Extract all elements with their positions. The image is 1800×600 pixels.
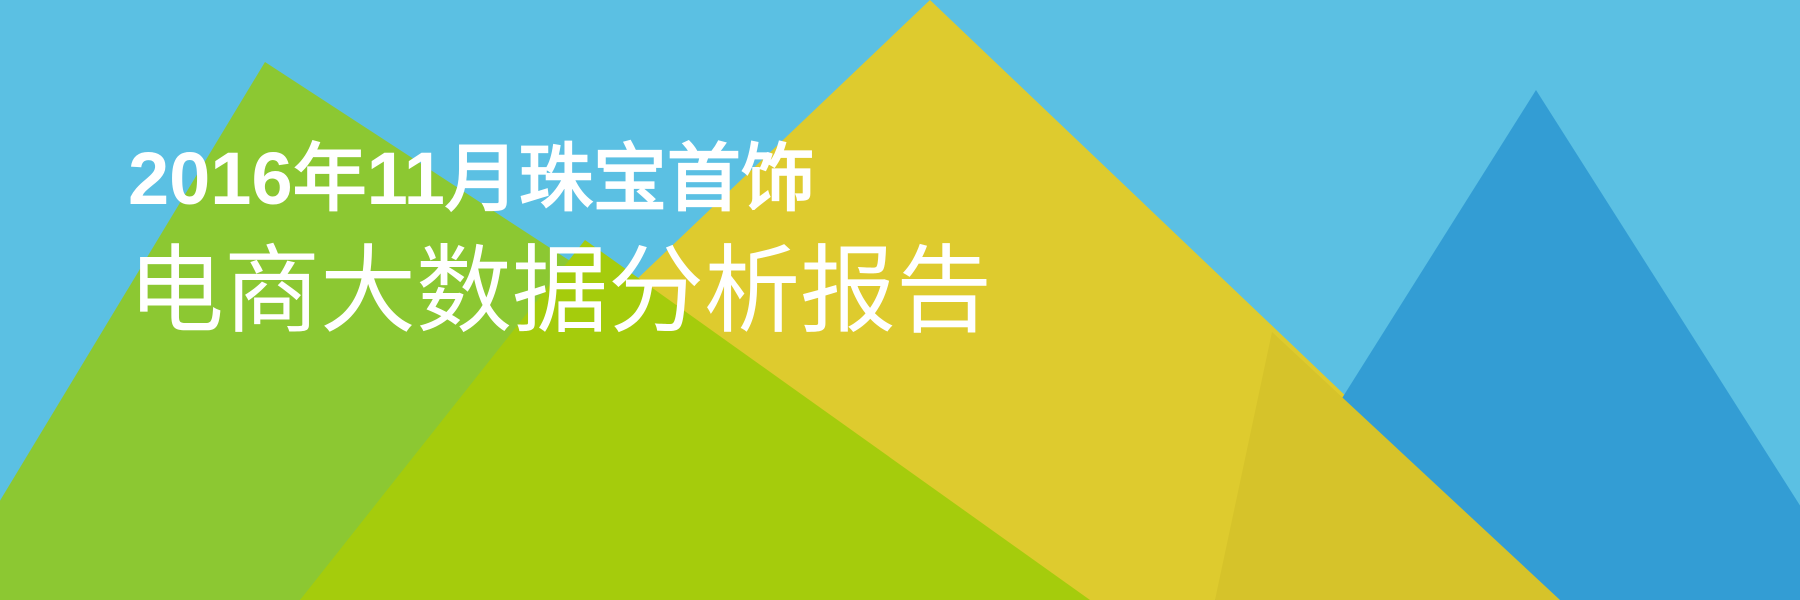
- background-geometry: [0, 0, 1800, 600]
- report-cover-banner: 2016年11月珠宝首饰 电商大数据分析报告: [0, 0, 1800, 600]
